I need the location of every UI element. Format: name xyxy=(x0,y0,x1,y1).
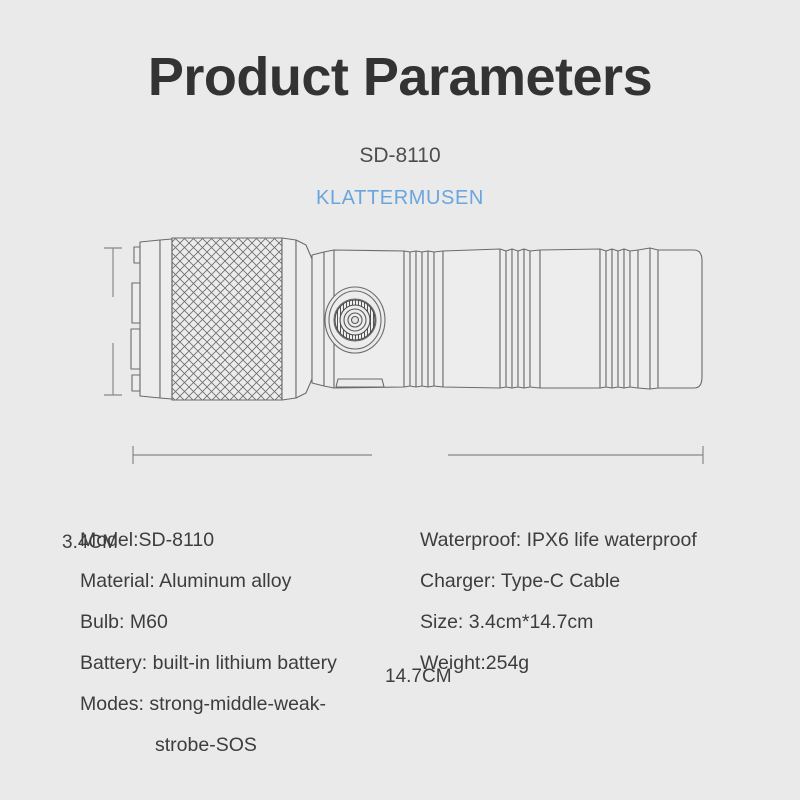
brand-name: KLATTERMUSEN xyxy=(0,187,800,210)
spec-line: Waterproof: IPX6 life waterproof xyxy=(420,520,770,561)
spec-line: Charger: Type-C Cable xyxy=(420,561,770,602)
spec-line: Model:SD-8110 xyxy=(80,520,410,561)
spec-line: Battery: built-in lithium battery xyxy=(80,643,410,684)
flashlight-diagram: 3.4CM 14.7CM xyxy=(0,225,800,485)
spec-line: Bulb: M60 xyxy=(80,602,410,643)
body-groove-group-2 xyxy=(500,249,540,388)
body-groove-group-3 xyxy=(600,249,638,388)
power-switch xyxy=(334,299,376,341)
spec-line: Weight:254g xyxy=(420,643,770,684)
spec-line: Material: Aluminum alloy xyxy=(80,561,410,602)
spec-line: Size: 3.4cm*14.7cm xyxy=(420,602,770,643)
specifications: Model:SD-8110 Material: Aluminum alloy B… xyxy=(0,520,800,770)
page-title: Product Parameters xyxy=(0,49,800,106)
spec-column-left: Model:SD-8110 Material: Aluminum alloy B… xyxy=(80,520,410,766)
spec-column-right: Waterproof: IPX6 life waterproof Charger… xyxy=(420,520,770,684)
vertical-dimension-line xyxy=(104,248,122,395)
body-groove-group-1 xyxy=(404,251,443,387)
bezel-crenellations xyxy=(131,247,140,391)
model-code-subtitle: SD-8110 xyxy=(0,144,800,168)
horizontal-dimension-line xyxy=(133,446,703,464)
spec-line: strobe-SOS xyxy=(80,725,410,766)
spec-line: Modes: strong-middle-weak- xyxy=(80,684,410,725)
